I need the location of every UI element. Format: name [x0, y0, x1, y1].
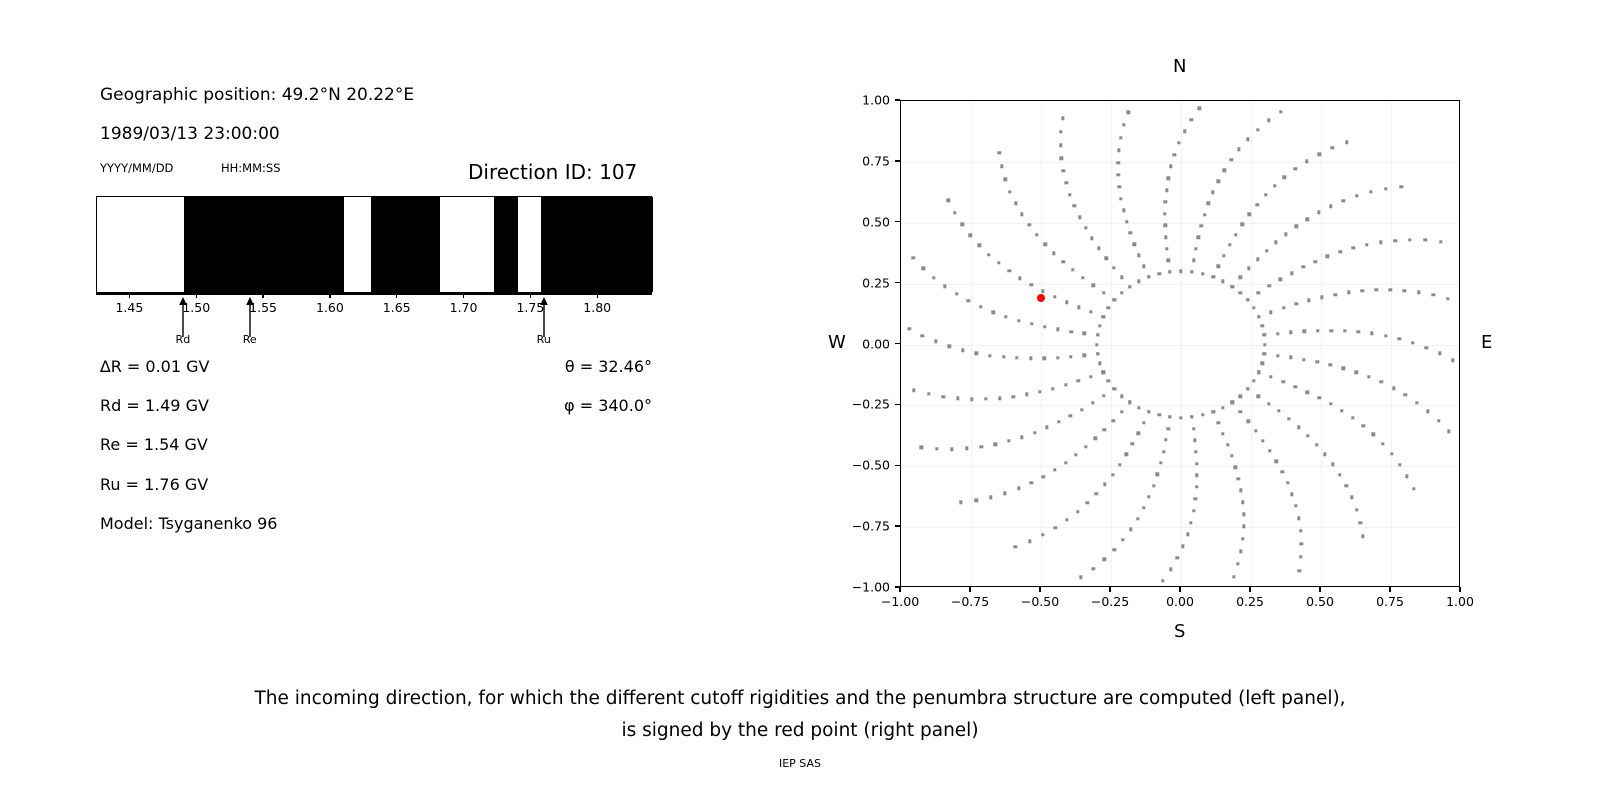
sky-direction-point: [1015, 356, 1018, 359]
sky-direction-point: [950, 448, 953, 451]
sky-direction-point: [1273, 184, 1276, 187]
sky-direction-point: [1103, 428, 1106, 431]
sky-x-ticklabel: −0.25: [1091, 594, 1129, 609]
sky-direction-point: [1137, 280, 1140, 283]
sky-direction-point: [1095, 492, 1098, 495]
sky-direction-point: [1102, 371, 1105, 374]
penumbra-forbidden-band: [541, 197, 653, 292]
sky-direction-point: [1071, 268, 1074, 271]
sky-direction-point: [1102, 315, 1105, 318]
sky-direction-point: [1372, 433, 1375, 436]
sky-direction-point: [1116, 161, 1119, 164]
sky-direction-point: [1113, 298, 1116, 301]
sky-direction-point: [988, 354, 991, 357]
sky-direction-point: [1156, 473, 1159, 476]
sky-direction-point: [1379, 240, 1382, 243]
sky-direction-point: [1053, 295, 1056, 298]
sky-direction-point: [1190, 270, 1193, 273]
sky-direction-point: [1120, 291, 1123, 294]
sky-direction-point: [947, 199, 950, 202]
sky-direction-point: [1147, 410, 1150, 413]
sky-direction-point: [1064, 181, 1067, 184]
sky-direction-point: [922, 266, 925, 269]
sky-direction-point: [1302, 358, 1305, 361]
footer-label: IEP SAS: [0, 757, 1600, 770]
sky-x-tick: [1039, 587, 1040, 592]
sky-direction-point: [1425, 346, 1428, 349]
sky-direction-point: [1361, 534, 1364, 537]
caption-line-2: is signed by the red point (right panel): [0, 720, 1600, 741]
sky-direction-point: [1261, 439, 1264, 442]
sky-direction-point: [1098, 324, 1101, 327]
sky-direction-point: [1086, 501, 1089, 504]
sky-direction-point: [1017, 319, 1020, 322]
sky-direction-point: [1334, 293, 1337, 296]
sky-direction-point: [1117, 173, 1120, 176]
penumbra-x-ticklabel: 1.55: [249, 300, 277, 315]
sky-gridline-horizontal: [901, 284, 1459, 285]
sky-direction-point: [1343, 329, 1346, 332]
sky-direction-point: [941, 395, 944, 398]
sky-direction-point: [1230, 454, 1233, 457]
sky-direction-point: [1164, 438, 1167, 441]
sky-direction-point: [1030, 481, 1033, 484]
sky-direction-point: [961, 349, 964, 352]
sky-direction-point: [1162, 450, 1165, 453]
sky-direction-point: [1352, 246, 1355, 249]
sky-direction-point: [1096, 352, 1099, 355]
sky-direction-point: [1351, 416, 1354, 419]
penumbra-x-axis: [96, 293, 652, 295]
sky-gridline-vertical: [1321, 101, 1322, 586]
sky-x-ticklabel: 1.00: [1446, 594, 1474, 609]
sky-direction-point: [987, 253, 990, 256]
sky-direction-point: [1221, 280, 1224, 283]
sky-direction-point: [1069, 414, 1072, 417]
sky-direction-point: [1161, 579, 1164, 582]
penumbra-x-ticklabel: 1.60: [316, 300, 344, 315]
sky-direction-point: [1232, 575, 1235, 578]
sky-direction-point: [1295, 225, 1298, 228]
sky-direction-point: [927, 392, 930, 395]
param-model: Model: Tsyganenko 96: [100, 514, 277, 533]
sky-direction-point: [1054, 526, 1057, 529]
sky-direction-point: [1076, 510, 1079, 513]
sky-direction-point: [1045, 426, 1048, 429]
sky-direction-point: [1237, 148, 1240, 151]
sky-direction-point: [967, 299, 970, 302]
penumbra-forbidden-band: [494, 197, 518, 292]
sky-direction-point: [975, 352, 978, 355]
sky-direction-point: [1084, 445, 1087, 448]
sky-direction-point: [1195, 485, 1198, 488]
sky-direction-point: [1279, 278, 1282, 281]
sky-direction-point: [1168, 415, 1171, 418]
penumbra-x-ticklabel: 1.45: [115, 300, 143, 315]
sky-direction-point: [1062, 169, 1065, 172]
sky-gridline-horizontal: [901, 405, 1459, 406]
sky-x-tick: [1179, 587, 1180, 592]
sky-direction-point: [1252, 379, 1255, 382]
sky-y-ticklabel: −1.00: [828, 580, 890, 595]
sky-direction-point: [1028, 539, 1031, 542]
sky-direction-point: [1295, 302, 1298, 305]
date-format-hint: YYYY/MM/DD: [100, 161, 173, 175]
sky-direction-point: [1405, 475, 1408, 478]
sky-direction-point: [1226, 443, 1229, 446]
sky-direction-point: [1003, 491, 1006, 494]
sky-direction-point: [1089, 310, 1092, 313]
sky-direction-point: [1094, 437, 1097, 440]
sky-direction-point: [1169, 568, 1172, 571]
compass-label-east: E: [1481, 332, 1492, 353]
sky-direction-point: [1307, 299, 1310, 302]
sky-direction-point: [1400, 185, 1403, 188]
sky-direction-point: [1331, 146, 1334, 149]
sky-direction-point: [969, 234, 972, 237]
sky-gridline-horizontal: [901, 527, 1459, 528]
sky-direction-point: [1083, 354, 1086, 357]
sky-direction-point: [1384, 334, 1387, 337]
sky-direction-point: [1103, 483, 1106, 486]
sky-direction-point: [1051, 387, 1054, 390]
sky-direction-point: [1038, 390, 1041, 393]
sky-direction-point: [1297, 425, 1300, 428]
sky-direction-point: [1118, 463, 1121, 466]
sky-gridline-horizontal: [901, 345, 1459, 346]
sky-direction-point: [1438, 352, 1441, 355]
sky-direction-point: [1305, 217, 1308, 220]
sky-direction-point: [1192, 509, 1195, 512]
sky-direction-point: [1189, 521, 1192, 524]
penumbra-x-ticklabel: 1.65: [383, 300, 411, 315]
sky-direction-point: [1294, 385, 1297, 388]
sky-direction-point: [998, 396, 1001, 399]
sky-direction-point: [1403, 289, 1406, 292]
sky-direction-point: [1269, 375, 1272, 378]
sky-direction-point: [959, 501, 962, 504]
sky-direction-point: [1358, 521, 1361, 524]
sky-y-ticklabel: 0.75: [828, 153, 890, 168]
sky-direction-point: [1398, 337, 1401, 340]
sky-direction-point: [1257, 315, 1260, 318]
param-re: Re = 1.54 GV: [100, 435, 208, 454]
sky-direction-point: [1242, 525, 1245, 528]
sky-direction-point: [1112, 266, 1115, 269]
sky-direction-point: [1056, 356, 1059, 359]
sky-direction-point: [1168, 270, 1171, 273]
sky-direction-point: [1306, 434, 1309, 437]
sky-direction-point: [1257, 394, 1260, 397]
sky-direction-point: [1302, 265, 1305, 268]
sky-y-ticklabel: 0.50: [828, 214, 890, 229]
sky-direction-point: [1229, 158, 1232, 161]
sky-direction-point: [1164, 200, 1167, 203]
sky-direction-point: [1342, 367, 1345, 370]
sky-direction-point: [1290, 493, 1293, 496]
sky-direction-point: [1221, 406, 1224, 409]
sky-gridline-vertical: [971, 101, 972, 586]
sky-direction-point: [1142, 506, 1145, 509]
sky-direction-point: [1190, 415, 1193, 418]
sky-direction-point: [935, 447, 938, 450]
sky-direction-point: [1033, 431, 1036, 434]
penumbra-marker-arrow-rd: [177, 297, 189, 337]
sky-direction-point: [1081, 276, 1084, 279]
sky-direction-point: [1269, 310, 1272, 313]
sky-direction-point: [1329, 402, 1332, 405]
sky-direction-point: [1345, 484, 1348, 487]
sky-direction-point: [1211, 275, 1214, 278]
geographic-position-label: Geographic position: 49.2°N 20.22°E: [100, 85, 414, 105]
param-rd: Rd = 1.49 GV: [100, 396, 209, 415]
sky-direction-point: [1398, 463, 1401, 466]
sky-direction-point: [1064, 383, 1067, 386]
sky-direction-point: [1289, 331, 1292, 334]
sky-direction-point: [1120, 394, 1123, 397]
sky-direction-point: [1107, 306, 1110, 309]
sky-direction-point: [1125, 220, 1128, 223]
sky-direction-point: [1412, 487, 1415, 490]
sky-direction-point: [1247, 267, 1250, 270]
sky-direction-point: [1183, 130, 1186, 133]
sky-direction-point: [1439, 240, 1442, 243]
sky-direction-point: [1329, 363, 1332, 366]
sky-direction-point: [1384, 187, 1387, 190]
sky-direction-point: [1197, 107, 1200, 110]
sky-direction-point: [955, 292, 958, 295]
sky-direction-point: [1216, 421, 1219, 424]
penumbra-marker-arrow-ru: [538, 297, 550, 337]
sky-direction-point: [1239, 276, 1242, 279]
sky-direction-point: [1164, 224, 1167, 227]
sky-direction-point: [1098, 362, 1101, 365]
sky-direction-point: [1329, 205, 1332, 208]
sky-direction-point: [1074, 453, 1077, 456]
sky-direction-point: [1042, 475, 1045, 478]
sky-direction-point: [1142, 421, 1145, 424]
sky-direction-point: [1059, 130, 1062, 133]
sky-direction-point: [1260, 324, 1263, 327]
sky-direction-point: [1326, 255, 1329, 258]
penumbra-marker-arrow-re: [244, 297, 256, 337]
sky-direction-point: [1137, 254, 1140, 257]
sky-direction-point: [1305, 160, 1308, 163]
sky-direction-point: [1127, 111, 1130, 114]
sky-direction-point: [998, 151, 1001, 154]
sky-direction-point: [1013, 545, 1016, 548]
sky-direction-point: [953, 211, 956, 214]
sky-direction-point: [1120, 410, 1123, 413]
sky-gridline-horizontal: [901, 223, 1459, 224]
sky-direction-point: [1044, 243, 1047, 246]
sky-direction-point: [1228, 243, 1231, 246]
sky-y-ticklabel: 0.00: [828, 336, 890, 351]
sky-direction-point: [1289, 356, 1292, 359]
sky-direction-point: [1000, 165, 1003, 168]
sky-direction-point: [1267, 402, 1270, 405]
sky-direction-point: [961, 223, 964, 226]
sky-direction-point: [1119, 197, 1122, 200]
sky-direction-point: [994, 443, 997, 446]
sky-direction-point: [1424, 238, 1427, 241]
sky-gridline-horizontal: [901, 466, 1459, 467]
penumbra-forbidden-band: [184, 197, 344, 292]
sky-x-ticklabel: −1.00: [881, 594, 919, 609]
sky-direction-point: [1252, 306, 1255, 309]
sky-direction-point: [1107, 379, 1110, 382]
sky-direction-point: [1260, 362, 1263, 365]
sky-direction-point: [1197, 236, 1200, 239]
sky-direction-point: [1095, 343, 1098, 346]
sky-direction-point: [1239, 550, 1242, 553]
sky-direction-point: [934, 340, 937, 343]
sky-x-tick: [1109, 587, 1110, 592]
sky-direction-point: [1357, 330, 1360, 333]
sky-direction-point: [1078, 215, 1081, 218]
sky-direction-point: [1091, 401, 1094, 404]
sky-direction-point: [1347, 291, 1350, 294]
sky-x-ticklabel: 0.25: [1236, 594, 1264, 609]
sky-direction-point: [1080, 408, 1083, 411]
penumbra-marker-label-ru: Ru: [537, 333, 551, 346]
sky-direction-point: [977, 244, 980, 247]
sky-direction-point: [1073, 204, 1076, 207]
sky-direction-point: [1268, 449, 1271, 452]
sky-direction-point: [1120, 276, 1123, 279]
sky-direction-point: [1237, 477, 1240, 480]
sky-direction-point: [1060, 157, 1063, 160]
sky-direction-point: [1007, 269, 1010, 272]
sky-direction-point: [1350, 496, 1353, 499]
sky-direction-point: [1008, 190, 1011, 193]
sky-direction-point: [1077, 306, 1080, 309]
sky-direction-point: [1096, 333, 1099, 336]
sky-direction-point: [1012, 395, 1015, 398]
sky-direction-point: [1177, 141, 1180, 144]
sky-direction-point: [1323, 452, 1326, 455]
penumbra-marker-label-re: Re: [243, 333, 257, 346]
sky-direction-point: [1281, 470, 1284, 473]
sky-direction-point: [1079, 575, 1082, 578]
sky-direction-point: [1192, 259, 1195, 262]
sky-direction-point: [919, 446, 922, 449]
sky-direction-point: [1042, 357, 1045, 360]
sky-direction-point: [984, 397, 987, 400]
sky-direction-point: [1083, 332, 1086, 335]
sky-direction-point: [1069, 330, 1072, 333]
sky-direction-point: [1299, 555, 1302, 558]
sky-direction-point: [1246, 298, 1249, 301]
sky-direction-point: [1299, 529, 1302, 532]
sky-direction-point: [1179, 416, 1182, 419]
sky-direction-point: [1257, 291, 1260, 294]
param-delta-r: ∆R = 0.01 GV: [100, 357, 209, 376]
sky-direction-point: [1102, 291, 1105, 294]
sky-direction-point: [965, 447, 968, 450]
sky-direction-point: [970, 397, 973, 400]
sky-direction-point: [1277, 409, 1280, 412]
sky-direction-point: [1338, 473, 1341, 476]
penumbra-x-ticklabel: 1.80: [583, 300, 611, 315]
sky-x-tick: [1459, 587, 1460, 592]
sky-direction-point: [1287, 417, 1290, 420]
sky-direction-point: [1173, 153, 1176, 156]
sky-direction-point: [1340, 409, 1343, 412]
penumbra-x-ticklabel: 1.50: [182, 300, 210, 315]
sky-direction-point: [1020, 435, 1023, 438]
sky-direction-point: [1062, 260, 1065, 263]
sky-gridline-vertical: [1111, 101, 1112, 586]
param-ru: Ru = 1.76 GV: [100, 475, 208, 494]
sky-direction-point: [1105, 256, 1108, 259]
sky-direction-point: [1192, 427, 1195, 430]
sky-direction-point: [1065, 518, 1068, 521]
sky-direction-point: [989, 495, 992, 498]
sky-direction-point: [1317, 396, 1320, 399]
sky-direction-point: [1152, 484, 1155, 487]
sky-gridline-horizontal: [901, 162, 1459, 163]
sky-direction-point: [1234, 233, 1237, 236]
sky-direction-point: [1404, 393, 1407, 396]
selected-direction-point: [1037, 294, 1045, 302]
sky-direction-point: [1275, 459, 1278, 462]
caption-line-1: The incoming direction, for which the di…: [0, 688, 1600, 709]
sky-direction-point: [1282, 380, 1285, 383]
sky-direction-point: [1417, 291, 1420, 294]
sky-direction-point: [1194, 497, 1197, 500]
sky-direction-point: [1265, 249, 1268, 252]
sky-direction-point: [1223, 169, 1226, 172]
sky-direction-point: [1362, 424, 1365, 427]
sky-direction-point: [1241, 500, 1244, 503]
sky-direction-point: [1411, 341, 1414, 344]
sky-direction-point: [1056, 328, 1059, 331]
sky-direction-point: [1165, 188, 1168, 191]
sky-direction-point: [1222, 254, 1225, 257]
sky-direction-point: [1142, 264, 1145, 267]
sky-direction-point: [1052, 252, 1055, 255]
sky-direction-point: [1246, 387, 1249, 390]
sky-direction-point: [1267, 119, 1270, 122]
sky-direction-point: [1147, 495, 1150, 498]
sky-direction-point: [1374, 288, 1377, 291]
sky-direction-point: [1263, 352, 1266, 355]
sky-direction-point: [908, 327, 911, 330]
sky-gridline-vertical: [1251, 101, 1252, 586]
sky-direction-point: [1381, 442, 1384, 445]
compass-label-west: W: [828, 332, 846, 353]
sky-direction-point: [1199, 224, 1202, 227]
sky-direction-point: [1025, 393, 1028, 396]
penumbra-forbidden-band: [371, 197, 441, 292]
sky-direction-point: [921, 334, 924, 337]
sky-direction-point: [1203, 213, 1206, 216]
sky-direction-point: [1297, 517, 1300, 520]
sky-direction-point: [1242, 512, 1245, 515]
sky-direction-point: [1166, 427, 1169, 430]
sky-direction-point: [1017, 487, 1020, 490]
sky-direction-point: [997, 261, 1000, 264]
sky-direction-point: [1254, 429, 1257, 432]
sky-map-chart: [900, 100, 1460, 587]
sky-direction-point: [1263, 343, 1266, 346]
sky-direction-point: [1029, 357, 1032, 360]
sky-direction-point: [1216, 179, 1219, 182]
sky-direction-point: [1286, 481, 1289, 484]
param-phi: φ = 340.0°: [380, 396, 652, 415]
sky-direction-point: [991, 310, 994, 313]
